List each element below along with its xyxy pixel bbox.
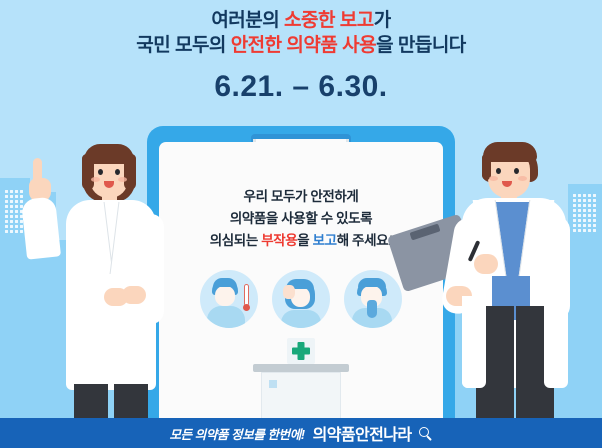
raised-arm <box>21 196 61 259</box>
headline-block: 여러분의 소중한 보고가 국민 모두의 안전한 의약품 사용을 만듭니다 <box>0 8 602 58</box>
coat-skirt <box>462 296 486 388</box>
bottom-tagline: 모든 의약품 정보를 한번에! <box>170 424 305 443</box>
eye-right <box>514 168 519 174</box>
clipboard-l3-blue: 보고 <box>313 233 337 248</box>
male-doctor <box>432 136 594 420</box>
coat-skirt-right <box>544 296 568 388</box>
cheek-left <box>91 177 100 182</box>
headline-l1-highlight: 소중한 보고 <box>284 10 374 31</box>
bottom-brand-bar: 모든 의약품 정보를 한번에! 의약품안전나라 <box>0 418 602 448</box>
trousers-left <box>74 384 108 420</box>
hand-right <box>122 286 146 304</box>
cheek-left <box>489 176 498 181</box>
fever-symptom-icon <box>200 270 258 328</box>
hand-right <box>474 254 498 274</box>
headline-l1-plain-b: 가 <box>374 10 391 31</box>
headline-line-2: 국민 모두의 안전한 의약품 사용을 만듭니다 <box>0 33 602 58</box>
headline-l2-highlight: 안전한 의약품 사용 <box>231 35 376 56</box>
cheek-right <box>118 177 127 182</box>
eye-left <box>98 169 103 175</box>
clipboard-line-1: 우리 모두가 안전하게 <box>159 186 443 208</box>
headache-symptom-icon <box>272 270 330 328</box>
hair-side-right <box>124 154 136 190</box>
eye-right <box>115 169 120 175</box>
hospital-sign <box>287 338 315 364</box>
hospital-tower-roof <box>253 364 349 372</box>
headline-l2-plain-a: 국민 모두의 <box>136 35 230 56</box>
right-arm <box>136 214 164 324</box>
headline-l2-plain-b: 을 만듭니다 <box>376 35 466 56</box>
clipboard-line-2: 의약품을 사용할 수 있도록 <box>159 208 443 230</box>
hair-fringe <box>483 142 537 162</box>
nausea-symptom-icon <box>344 270 402 328</box>
clipboard-l3-plain-a: 의심되는 <box>210 233 261 248</box>
magnifier-icon[interactable] <box>419 427 432 440</box>
trousers-right <box>114 384 148 420</box>
hair-side-left <box>82 154 94 190</box>
campaign-date-range: 6.21. – 6.30. <box>0 70 602 104</box>
campaign-poster: 여러분의 소중한 보고가 국민 모두의 안전한 의약품 사용을 만듭니다 6.2… <box>0 0 602 448</box>
female-doctor <box>18 136 178 420</box>
eye-left <box>496 168 501 174</box>
brand-name: 의약품안전나라 <box>313 421 412 445</box>
clipboard-l3-plain-c: 해 주세요 <box>337 233 388 248</box>
headline-l1-plain-a: 여러분의 <box>211 10 284 31</box>
headline-line-1: 여러분의 소중한 보고가 <box>0 8 602 33</box>
clipboard-l3-red: 부작용 <box>261 233 297 248</box>
clipboard-l3-plain-b: 을 <box>297 233 312 248</box>
cheek-right <box>518 176 527 181</box>
hospital-tower <box>261 372 341 420</box>
